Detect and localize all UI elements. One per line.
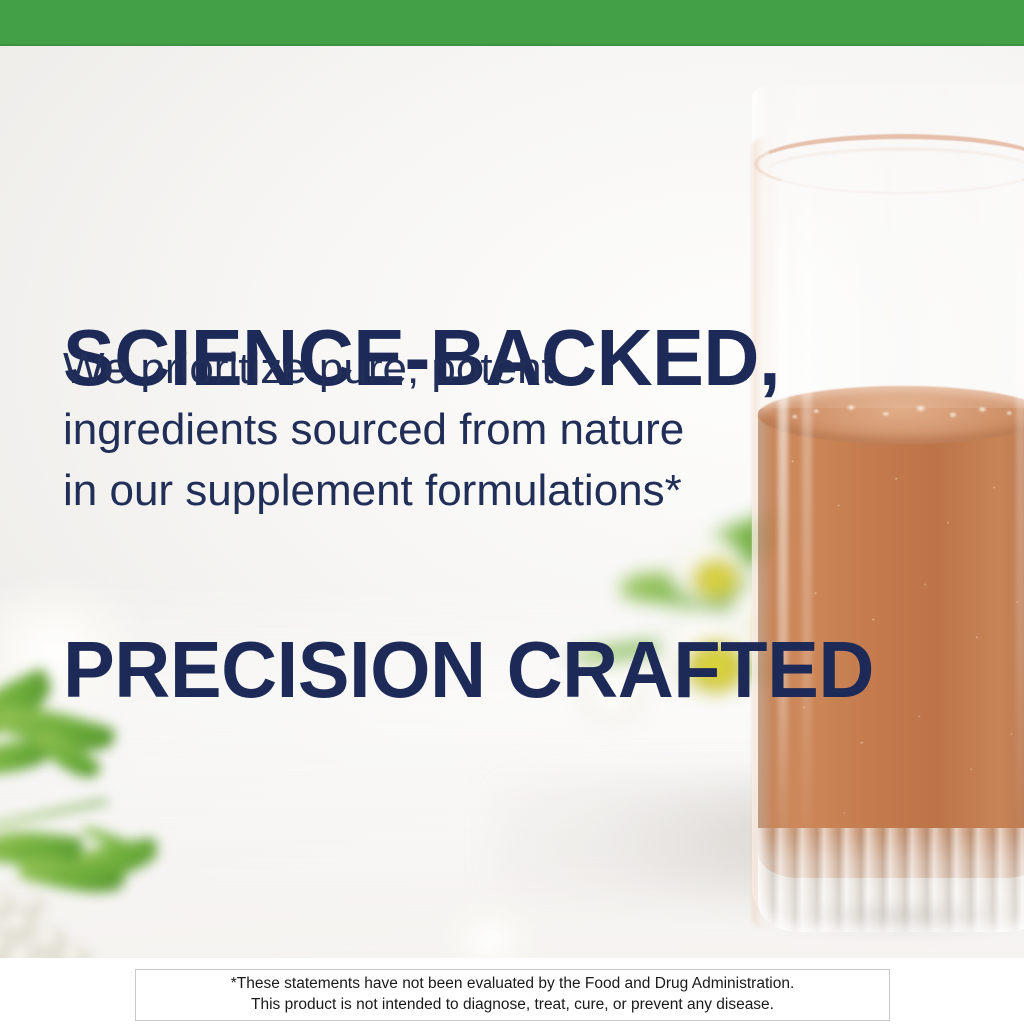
- fda-disclaimer-line-1: *These statements have not been evaluate…: [142, 973, 883, 994]
- headline-line-2: PRECISION CRAFTED: [63, 618, 874, 722]
- subheadline-paragraph: We prioritize pure, potent ingredients s…: [63, 338, 703, 521]
- footer-bar: *These statements have not been evaluate…: [0, 958, 1024, 1024]
- top-green-bar: [0, 0, 1024, 46]
- fda-disclaimer-box: *These statements have not been evaluate…: [135, 969, 890, 1021]
- glass-highlight-streak: [1016, 156, 1024, 856]
- fda-disclaimer-line-2: This product is not intended to diagnose…: [142, 994, 883, 1015]
- product-detail-image: SCIENCE-BACKED, PRECISION CRAFTED We pri…: [0, 0, 1024, 1024]
